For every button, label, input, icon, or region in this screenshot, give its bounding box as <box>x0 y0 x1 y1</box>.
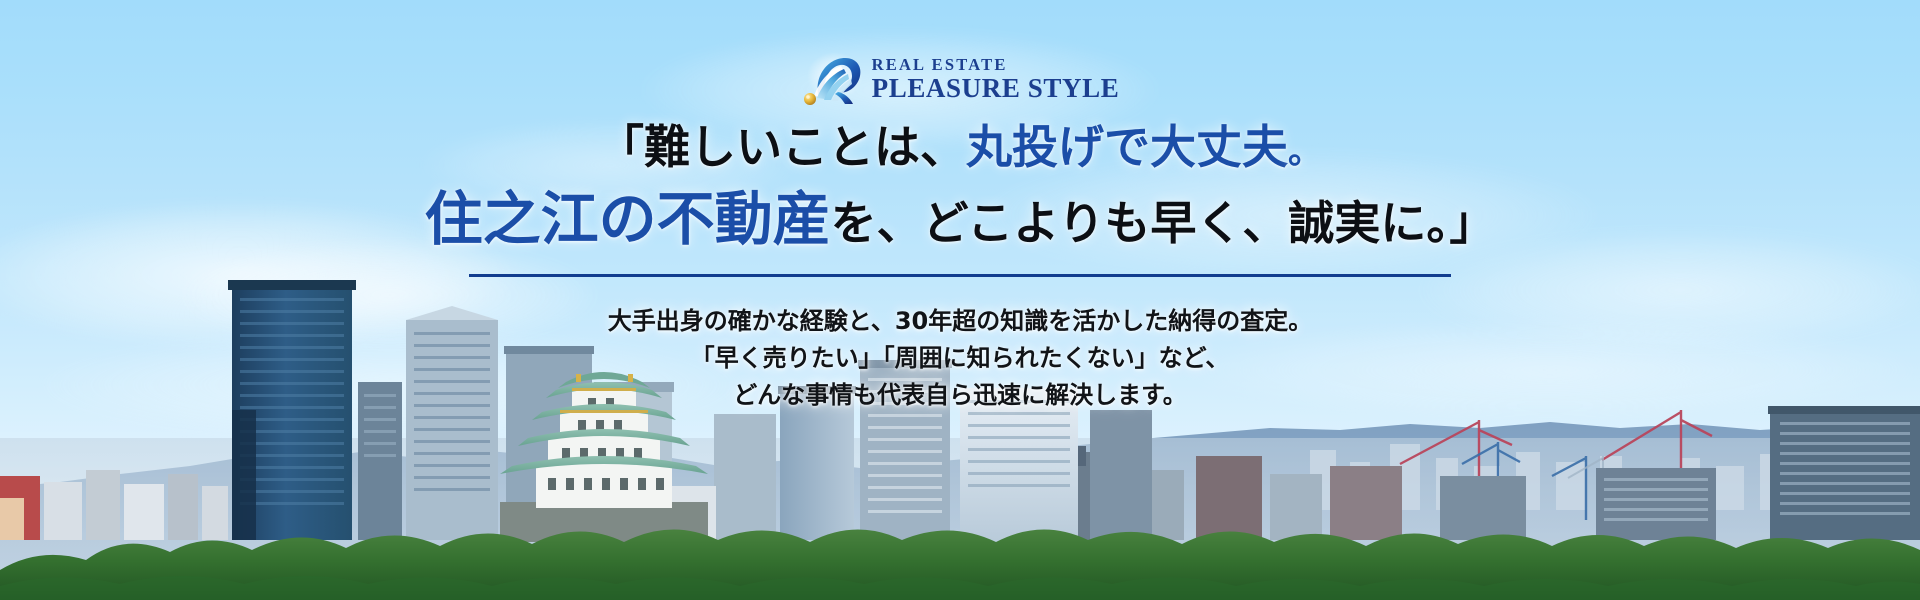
logo-wordmark: REAL ESTATE PLEASURE STYLE <box>872 56 1120 103</box>
page-title: 「難しいことは、丸投げで大丈夫。 住之江の不動産を、どこよりも早く、誠実に。」 <box>425 124 1496 248</box>
headline-l2-black: を、どこよりも早く、誠実に。」 <box>831 196 1496 250</box>
logo-tagline: REAL ESTATE <box>872 56 1120 73</box>
hero-banner: REAL ESTATE PLEASURE STYLE 「難しいことは、丸投げで大… <box>0 0 1920 600</box>
hero-content: REAL ESTATE PLEASURE STYLE 「難しいことは、丸投げで大… <box>0 0 1920 600</box>
headline-l1-period: 。 <box>1288 132 1322 172</box>
hero-description: 大手出身の確かな経験と、30年超の知識を活かした納得の査定。 「早く売りたい」「… <box>608 303 1312 415</box>
description-line: どんな事情も代表自ら迅速に解決します。 <box>608 377 1312 414</box>
headline-line-2: 住之江の不動産を、どこよりも早く、誠実に。」 <box>425 190 1496 248</box>
description-line: 大手出身の確かな経験と、30年超の知識を活かした納得の査定。 <box>608 303 1312 340</box>
headline-l2-blue: 住之江の不動産 <box>425 185 831 253</box>
logo-name: PLEASURE STYLE <box>872 74 1120 103</box>
swoosh-r-mark-icon <box>801 52 863 106</box>
section-divider <box>469 274 1451 277</box>
headline-l1-black: 「難しいことは、 <box>598 120 966 174</box>
site-logo[interactable]: REAL ESTATE PLEASURE STYLE <box>801 52 1120 106</box>
headline-l1-blue: 丸投げで大丈夫 <box>966 120 1288 174</box>
headline-line-1: 「難しいことは、丸投げで大丈夫。 <box>425 124 1496 170</box>
description-line: 「早く売りたい」「周囲に知られたくない」など、 <box>608 340 1312 377</box>
